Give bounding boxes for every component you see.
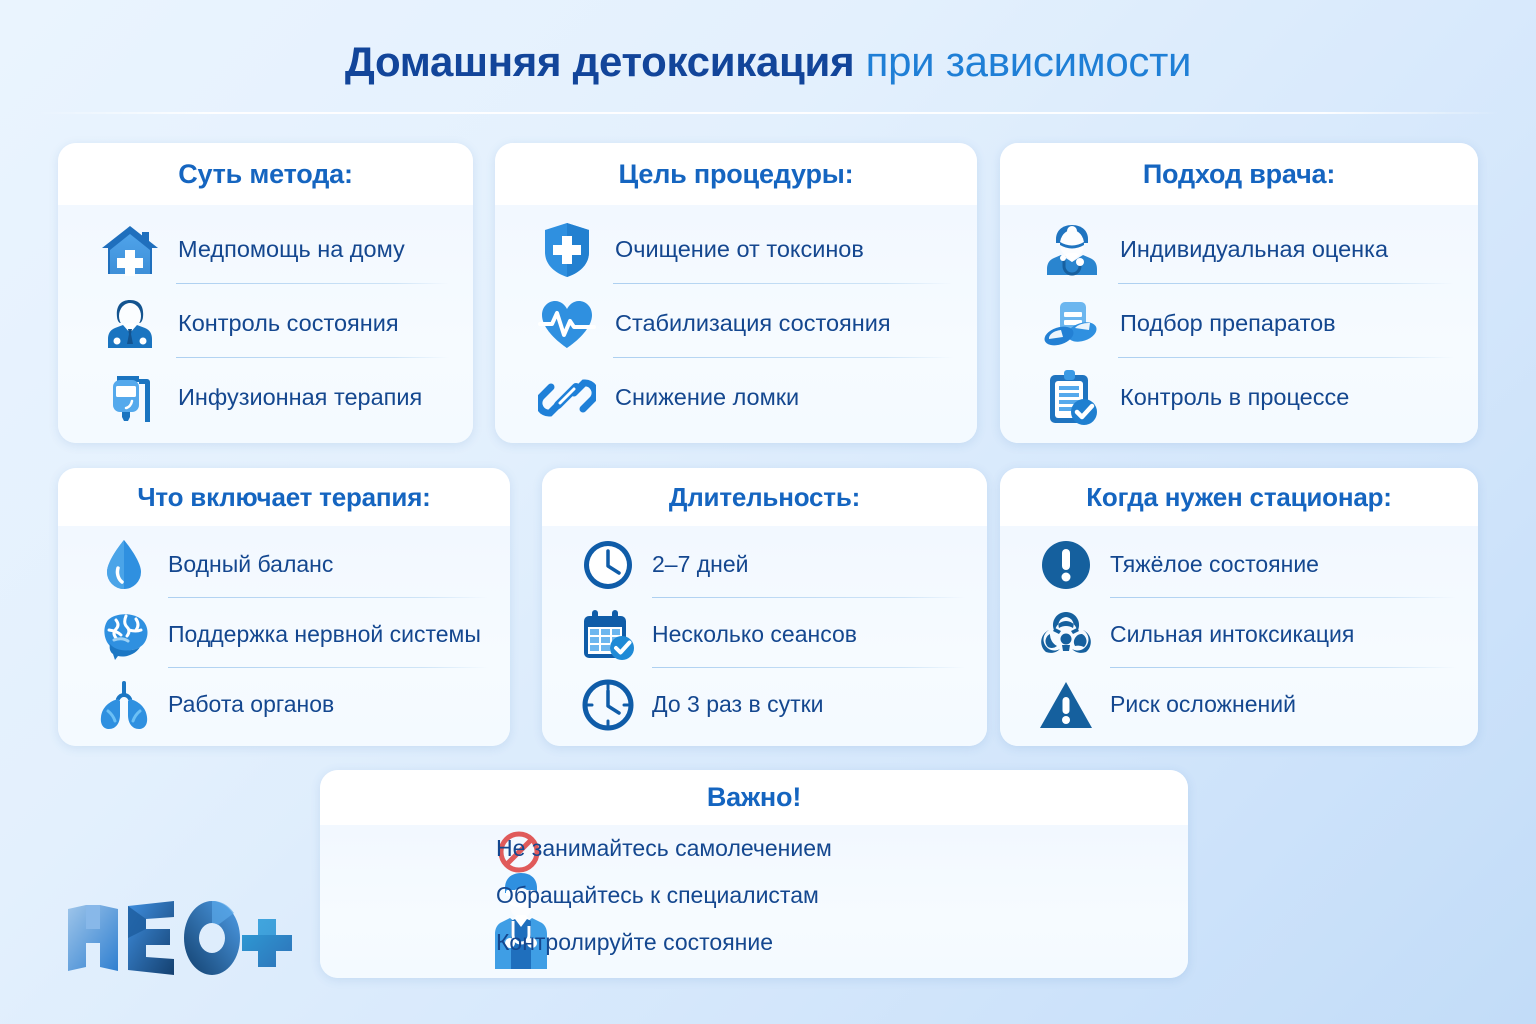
doctor-person-icon	[92, 293, 168, 355]
list-item: Обращайтесь к специалистам	[320, 872, 1188, 919]
page-title-strong: Домашняя детоксикация	[345, 38, 854, 85]
clipboard-check-icon	[1034, 367, 1110, 429]
list-item-label: Очищение от токсинов	[615, 237, 864, 263]
card-title: Длительность:	[542, 468, 987, 526]
card-body: Индивидуальная оценка Подбор препаратов	[1000, 205, 1478, 443]
exclamation-circle-icon	[1030, 536, 1102, 594]
card-cel-procedury: Цель процедуры: Очищение от токсинов Ста…	[495, 143, 977, 443]
doctor-stethoscope-icon	[1034, 219, 1110, 281]
card-title: Что включает терапия:	[58, 468, 510, 526]
card-body: Водный баланс Поддержка	[58, 526, 510, 746]
row-separator	[176, 283, 449, 284]
row-separator	[652, 597, 965, 598]
title-divider	[36, 112, 1500, 114]
iv-drip-icon	[92, 367, 168, 429]
heart-pulse-icon	[529, 293, 605, 355]
card-body: Не занимайтесь самолечением Обращайтесь …	[320, 825, 1188, 978]
card-body: Медпомощь на дому Контроль состояния	[58, 205, 473, 443]
list-item-label: Поддержка нервной системы	[168, 622, 481, 647]
list-item-label: Медпомощь на дому	[178, 237, 405, 263]
row-separator	[1110, 667, 1456, 668]
list-item: Поддержка нервной системы	[58, 600, 510, 670]
list-item: Контроль в процессе	[1000, 361, 1478, 435]
list-item-label: Контроль состояния	[178, 311, 399, 337]
water-drop-icon	[88, 536, 160, 594]
list-item: Работа органов	[58, 670, 510, 740]
list-item-label: Обращайтесь к специалистам	[496, 883, 819, 908]
card-title: Цель процедуры:	[495, 143, 977, 205]
biohazard-icon	[1030, 606, 1102, 664]
row-separator	[1110, 597, 1456, 598]
card-podhod-vracha: Подход врача: Индивидуальная оценка	[1000, 143, 1478, 443]
row-separator	[652, 667, 965, 668]
row-separator	[168, 667, 488, 668]
shield-cross-icon	[529, 219, 605, 281]
list-item: Несколько сеансов	[542, 600, 987, 670]
row-separator	[613, 357, 953, 358]
card-kogda-nuzhen-stacionar: Когда нужен стационар: Тяжёлое состояние	[1000, 468, 1478, 746]
pills-package-icon	[1034, 293, 1110, 355]
list-item-label: Несколько сеансов	[652, 622, 857, 647]
list-item-label: Водный баланс	[168, 552, 333, 577]
list-item: Подбор препаратов	[1000, 287, 1478, 361]
list-item-label: Стабилизация состояния	[615, 311, 891, 337]
list-item-label: Снижение ломки	[615, 385, 799, 411]
list-item: Контроль состояния	[58, 287, 473, 361]
clock-icon	[572, 536, 644, 594]
list-item-label: Индивидуальная оценка	[1120, 237, 1388, 263]
list-item-label: Риск осложнений	[1110, 692, 1296, 717]
brain-icon	[88, 606, 160, 664]
row-separator	[168, 597, 488, 598]
calendar-check-icon	[572, 606, 644, 664]
list-item: Контролируйте состояние	[320, 919, 1188, 966]
warning-triangle-icon	[1030, 676, 1102, 734]
row-separator	[1118, 357, 1454, 358]
list-item-label: Контроль в процессе	[1120, 385, 1349, 411]
list-item: Риск осложнений	[1000, 670, 1478, 740]
card-body: 2–7 дней Нескольк	[542, 526, 987, 746]
list-item: Индивидуальная оценка	[1000, 213, 1478, 287]
lungs-icon	[88, 676, 160, 734]
list-item: 2–7 дней	[542, 530, 987, 600]
row-separator	[613, 283, 953, 284]
row-separator	[1118, 283, 1454, 284]
card-sut-metoda: Суть метода: Медпомощь на дому	[58, 143, 473, 443]
card-dlitelnost: Длительность: 2–7 дней	[542, 468, 987, 746]
logo-neo-plus	[62, 895, 292, 981]
card-body: Очищение от токсинов Стабилизация состоя…	[495, 205, 977, 443]
card-title: Когда нужен стационар:	[1000, 468, 1478, 526]
chain-link-icon	[529, 367, 605, 429]
page-title-light: при зависимости	[866, 38, 1192, 85]
list-item: До 3 раз в сутки	[542, 670, 987, 740]
list-item-label: Работа органов	[168, 692, 334, 717]
card-vazhno: Важно! Не занимайтесь самол	[320, 770, 1188, 978]
list-item-label: Подбор препаратов	[1120, 311, 1336, 337]
list-item-label: До 3 раз в сутки	[652, 692, 824, 717]
list-item-label: Контролируйте состояние	[496, 930, 773, 955]
list-item: Водный баланс	[58, 530, 510, 600]
card-title: Суть метода:	[58, 143, 473, 205]
clock-icon	[572, 676, 644, 734]
list-item: Не занимайтесь самолечением	[320, 825, 1188, 872]
list-item: Медпомощь на дому	[58, 213, 473, 287]
page-title: Домашняя детоксикация при зависимости	[0, 38, 1536, 86]
card-body: Тяжёлое состояние Сильная инток	[1000, 526, 1478, 746]
list-item-label: Инфузионная терапия	[178, 385, 422, 411]
list-item-label: Не занимайтесь самолечением	[496, 836, 832, 861]
card-chto-vklyuchaet: Что включает терапия: Водный баланс	[58, 468, 510, 746]
list-item-label: Сильная интоксикация	[1110, 622, 1354, 647]
card-title: Подход врача:	[1000, 143, 1478, 205]
row-separator	[176, 357, 449, 358]
card-title: Важно!	[320, 770, 1188, 825]
list-item-label: Тяжёлое состояние	[1110, 552, 1319, 577]
list-item: Тяжёлое состояние	[1000, 530, 1478, 600]
list-item-label: 2–7 дней	[652, 552, 749, 577]
home-medical-icon	[92, 219, 168, 281]
list-item: Инфузионная терапия	[58, 361, 473, 435]
list-item: Снижение ломки	[495, 361, 977, 435]
list-item: Стабилизация состояния	[495, 287, 977, 361]
list-item: Сильная интоксикация	[1000, 600, 1478, 670]
list-item: Очищение от токсинов	[495, 213, 977, 287]
